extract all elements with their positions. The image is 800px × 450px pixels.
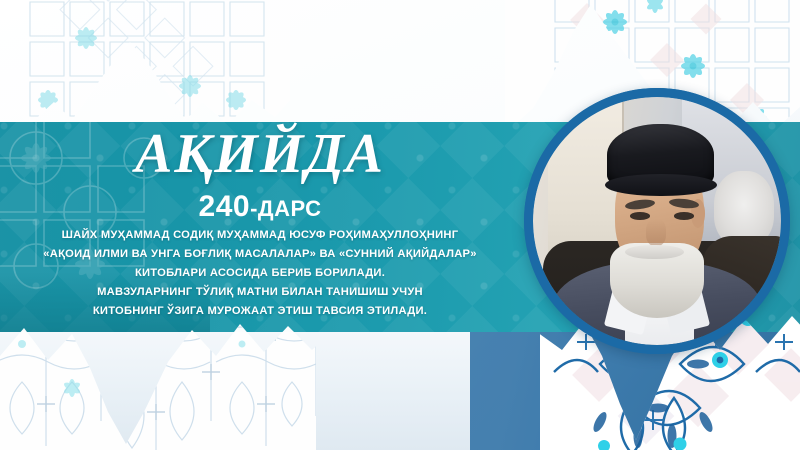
poster-canvas: АҚИЙДА 240-ДАРС ШАЙХ МУҲАММАД СОДИҚ МУҲА… (0, 0, 800, 450)
description-text: ШАЙХ МУҲАММАД СОДИҚ МУҲАММАД ЮСУФ РОҲИМА… (0, 226, 520, 321)
page-title: АҚИЙДА (0, 126, 520, 182)
description-line: КИТОБЛАРИ АСОСИДА БЕРИБ БОРИЛАДИ. (0, 264, 520, 283)
lesson-number: 240 (199, 190, 251, 223)
description-line: КИТОБНИНГ ЎЗИГА МУРОЖААТ ЭТИШ ТАВСИЯ ЭТИ… (0, 302, 520, 321)
lesson-suffix: -ДАРС (250, 196, 321, 221)
background-pale-field (0, 330, 470, 450)
lesson-label: 240-ДАРС (0, 192, 520, 222)
description-line: МАВЗУЛАРНИНГ ТЎЛИҚ МАТНИ БИЛАН ТАНИШИШ У… (0, 283, 520, 302)
portrait-avatar (524, 88, 790, 354)
portrait-ring-border (524, 88, 790, 354)
description-line: ШАЙХ МУҲАММАД СОДИҚ МУҲАММАД ЮСУФ РОҲИМА… (0, 226, 520, 245)
description-line: «АҚОИД ИЛМИ ВА УНГА БОҒЛИҚ МАСАЛАЛАР» ВА… (0, 245, 520, 264)
